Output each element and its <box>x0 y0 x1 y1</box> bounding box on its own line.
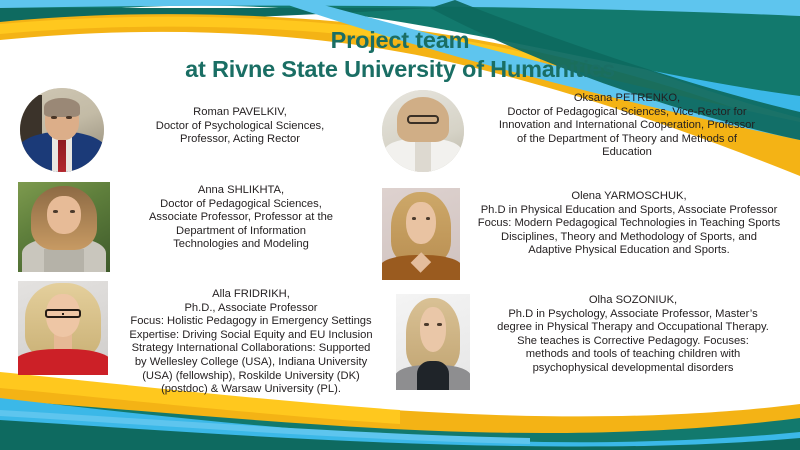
ribbon-bottom-blue <box>0 398 800 450</box>
slide-title: Project team at Rivne State University o… <box>0 26 800 84</box>
member-detail-line: Expertise: Driving Social Equity and EU … <box>106 329 396 343</box>
member-name: Olha SOZONIUK, <box>472 294 794 308</box>
title-line-2: at Rivne State University of Humanities <box>0 55 800 84</box>
bio-oksana-petrenko: Oksana PETRENKO, Doctor of Pedagogical S… <box>462 92 792 160</box>
member-detail-line: Strategy International Collaborations: S… <box>106 342 396 356</box>
member-detail-line: Doctor of Pedagogical Sciences, <box>112 198 370 212</box>
photo-olena-yarmoschuk <box>382 188 460 280</box>
member-detail-line: methods and tools of teaching children w… <box>472 348 794 362</box>
member-detail-line: Disciplines, Theory and Methodology of S… <box>462 231 796 245</box>
presentation-slide: Project team at Rivne State University o… <box>0 0 800 450</box>
member-detail-line: Adaptive Physical Education and Sports. <box>462 244 796 258</box>
ribbon-bottom-teal-front <box>0 420 800 450</box>
member-detail-line: Professor, Acting Rector <box>110 133 370 147</box>
photo-roman-pavelkiv <box>20 88 104 172</box>
member-name: Roman PAVELKIV, <box>110 106 370 120</box>
photo-alla-fridrikh <box>18 281 108 375</box>
member-detail-line: Education <box>462 146 792 160</box>
member-name: Alla FRIDRIKH, <box>106 288 396 302</box>
member-detail-line: Technologies and Modeling <box>112 238 370 252</box>
member-detail-line: (postdoc) & Warsaw University (PL). <box>106 383 396 397</box>
member-detail-line: She teaches is Corrective Pedagogy. Focu… <box>472 335 794 349</box>
ribbon-top-blue-sliver <box>0 0 800 16</box>
member-detail-line: Ph.D in Physical Education and Sports, A… <box>462 204 796 218</box>
member-detail-line: by Wellesley College (USA), Indiana Univ… <box>106 356 396 370</box>
member-detail-line: (USA) (fellowship), Roskilde University … <box>106 370 396 384</box>
member-detail-line: Ph.D in Psychology, Associate Professor,… <box>472 308 794 322</box>
member-detail-line: degree in Physical Therapy and Occupatio… <box>472 321 794 335</box>
member-name: Anna SHLIKHTA, <box>112 184 370 198</box>
member-detail-line: Department of Information <box>112 225 370 239</box>
member-name: Oksana PETRENKO, <box>462 92 792 106</box>
bio-alla-fridrikh: Alla FRIDRIKH, Ph.D., Associate Professo… <box>106 288 396 397</box>
member-detail-line: of the Department of Theory and Methods … <box>462 133 792 147</box>
bio-olena-yarmoschuk: Olena YARMOSCHUK, Ph.D in Physical Educa… <box>462 190 796 258</box>
photo-oksana-petrenko <box>382 90 464 172</box>
member-name: Olena YARMOSCHUK, <box>462 190 796 204</box>
member-detail-line: Focus: Holistic Pedagogy in Emergency Se… <box>106 315 396 329</box>
bio-olha-sozoniuk: Olha SOZONIUK, Ph.D in Psychology, Assoc… <box>472 294 794 376</box>
bio-roman-pavelkiv: Roman PAVELKIV, Doctor of Psychological … <box>110 106 370 147</box>
photo-olha-sozoniuk <box>396 294 470 390</box>
member-detail-line: Associate Professor, Professor at the <box>112 211 370 225</box>
member-detail-line: psychophysical developmental disorders <box>472 362 794 376</box>
member-detail-line: Doctor of Pedagogical Sciences, Vice-Rec… <box>462 106 792 120</box>
ribbon-bottom-teal <box>0 400 800 450</box>
member-detail-line: Ph.D., Associate Professor <box>106 302 396 316</box>
bio-anna-shlikhta: Anna SHLIKHTA, Doctor of Pedagogical Sci… <box>112 184 370 252</box>
member-detail-line: Doctor of Psychological Sciences, <box>110 120 370 134</box>
ribbon-bottom-blue-thread <box>0 410 530 444</box>
photo-anna-shlikhta <box>18 182 110 272</box>
member-detail-line: Innovation and International Cooperation… <box>462 119 792 133</box>
member-detail-line: Focus: Modern Pedagogical Technologies i… <box>462 217 796 231</box>
title-line-1: Project team <box>0 26 800 55</box>
